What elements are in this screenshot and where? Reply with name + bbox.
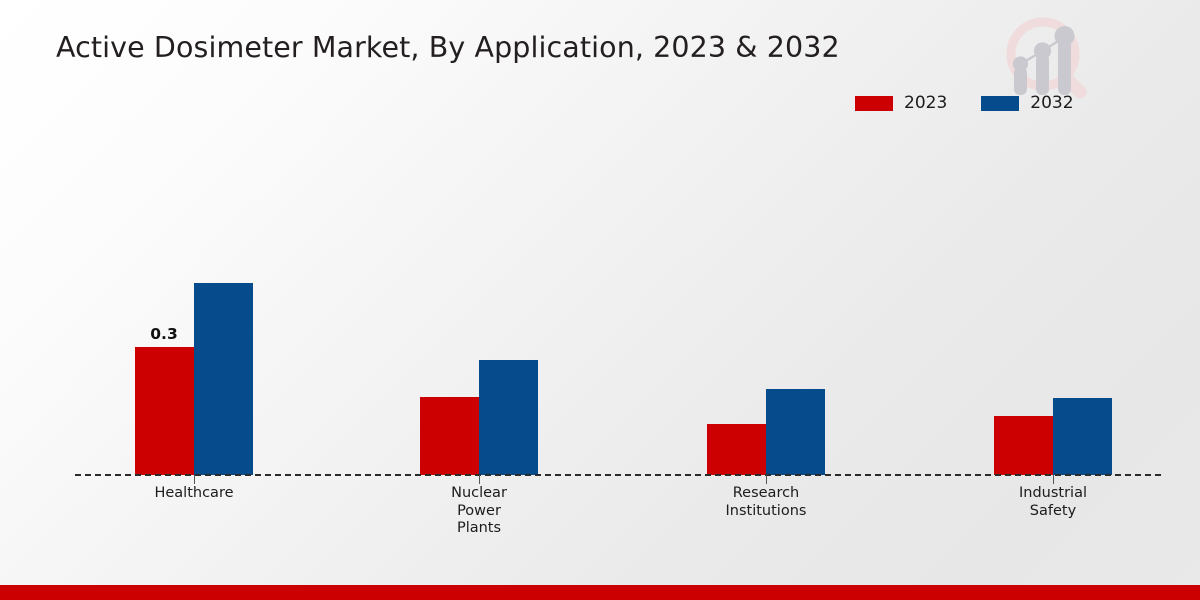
x-axis-label-nuclear-power-plants: Nuclear Power Plants	[389, 485, 569, 538]
x-axis-label-research-institutions-line-2: Institutions	[676, 503, 856, 521]
bar-group-industrial-safety	[994, 130, 1112, 475]
x-axis-label-research-institutions: Research Institutions	[676, 485, 856, 520]
x-axis-label-research-institutions-line-1: Research	[676, 485, 856, 503]
x-axis-label-nuclear-power-plants-line-3: Plants	[389, 520, 569, 538]
x-axis-baseline	[75, 474, 1161, 476]
chart-canvas: Active Dosimeter Market, By Application,…	[0, 0, 1200, 600]
bar-group-research-institutions	[707, 130, 825, 475]
bar-group-healthcare: 0.3	[135, 130, 253, 475]
bar-2023-industrial-safety[interactable]	[994, 416, 1053, 475]
x-axis-label-nuclear-power-plants-line-2: Power	[389, 503, 569, 521]
bar-group-nuclear-power-plants	[420, 130, 538, 475]
x-axis-label-healthcare: Healthcare	[104, 485, 284, 503]
chart-legend: 2023 2032	[855, 92, 1074, 114]
legend-item-2032[interactable]: 2032	[981, 95, 1073, 112]
legend-item-2023[interactable]: 2023	[855, 95, 947, 112]
legend-swatch-2023	[855, 96, 893, 111]
bar-2023-healthcare[interactable]	[135, 347, 194, 475]
x-axis-label-industrial-safety-line-2: Safety	[963, 503, 1143, 521]
y-axis-label: Market Size in USD Billion	[2, 0, 32, 600]
bar-2023-nuclear-power-plants[interactable]	[420, 397, 479, 475]
legend-swatch-2032	[981, 96, 1019, 111]
x-axis-tick-research-institutions	[766, 475, 767, 484]
legend-label-2032: 2032	[1030, 95, 1073, 112]
x-axis-label-industrial-safety-line-1: Industrial	[963, 485, 1143, 503]
bar-2032-research-institutions[interactable]	[766, 389, 825, 475]
bar-value-label-2023-healthcare: 0.3	[131, 325, 197, 343]
x-axis-tick-nuclear-power-plants	[479, 475, 480, 484]
x-axis-tick-industrial-safety	[1053, 475, 1054, 484]
legend-label-2023: 2023	[904, 95, 947, 112]
bar-2032-nuclear-power-plants[interactable]	[479, 360, 538, 475]
bar-2023-research-institutions[interactable]	[707, 424, 766, 475]
x-axis-label-healthcare-line-1: Healthcare	[104, 485, 284, 503]
bar-2032-healthcare[interactable]	[194, 283, 253, 475]
bar-2032-industrial-safety[interactable]	[1053, 398, 1112, 475]
footer-accent-strip	[0, 585, 1200, 600]
page-title: Active Dosimeter Market, By Application,…	[56, 31, 936, 64]
plot-area: 0.3	[75, 130, 1161, 475]
x-axis-label-nuclear-power-plants-line-1: Nuclear	[389, 485, 569, 503]
x-axis-tick-healthcare	[194, 475, 195, 484]
x-axis-label-industrial-safety: Industrial Safety	[963, 485, 1143, 520]
